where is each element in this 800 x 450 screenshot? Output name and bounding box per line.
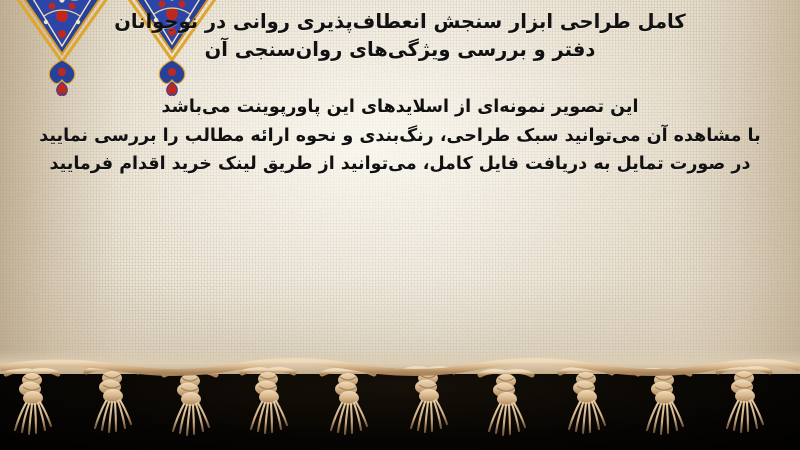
slide-body: این تصویر نمونه‌ای از اسلایدهای این پاور… [0,93,800,178]
slide-title: کامل طراحی ابزار سنجش انعطاف‌پذیری روانی… [0,8,800,63]
body-line-2: با مشاهده آن می‌توانید سبک طراحی، رنگ‌بن… [0,122,800,150]
body-line-3: در صورت تمایل به دریافت فایل کامل، می‌تو… [0,150,800,178]
carpet-knotted-fringe [0,350,800,450]
body-line-1: این تصویر نمونه‌ای از اسلایدهای این پاور… [0,93,800,121]
presentation-slide: کامل طراحی ابزار سنجش انعطاف‌پذیری روانی… [0,0,800,450]
slide-text-container: کامل طراحی ابزار سنجش انعطاف‌پذیری روانی… [0,0,800,374]
title-line-1: کامل طراحی ابزار سنجش انعطاف‌پذیری روانی… [0,8,800,36]
title-line-2: دفتر و بررسی ویژگی‌های روان‌سنجی آن [0,36,800,64]
fringe-knot-row [0,350,800,450]
